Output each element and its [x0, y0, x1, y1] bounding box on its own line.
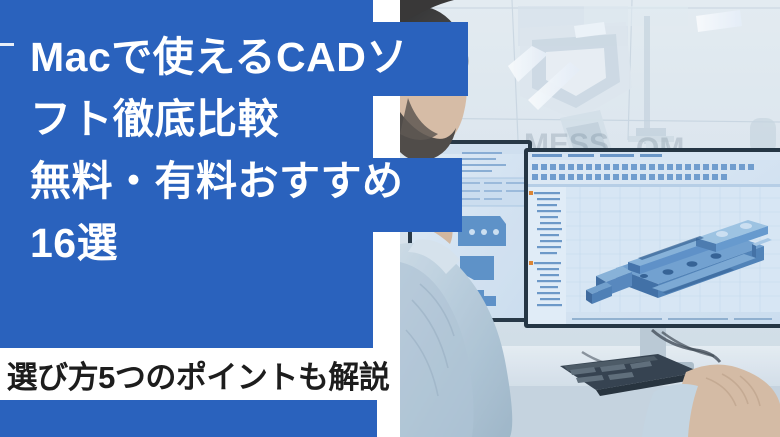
title-line-2: フト徹底比較 — [30, 88, 490, 150]
corner-tick-line — [0, 43, 14, 46]
title-line-1: Macで使えるCADソ — [30, 26, 490, 88]
subtitle-text: 選び方5つのポイントも解説 — [0, 349, 400, 399]
title-line-4: 16選 — [30, 212, 490, 274]
page-title: Macで使えるCADソ フト徹底比較 無料・有料おすすめ 16選 — [30, 26, 490, 274]
thumbnail-canvas: MESS OM — [0, 0, 780, 437]
title-line-3: 無料・有料おすすめ — [30, 150, 490, 212]
blue-bottom-panel — [0, 400, 377, 437]
